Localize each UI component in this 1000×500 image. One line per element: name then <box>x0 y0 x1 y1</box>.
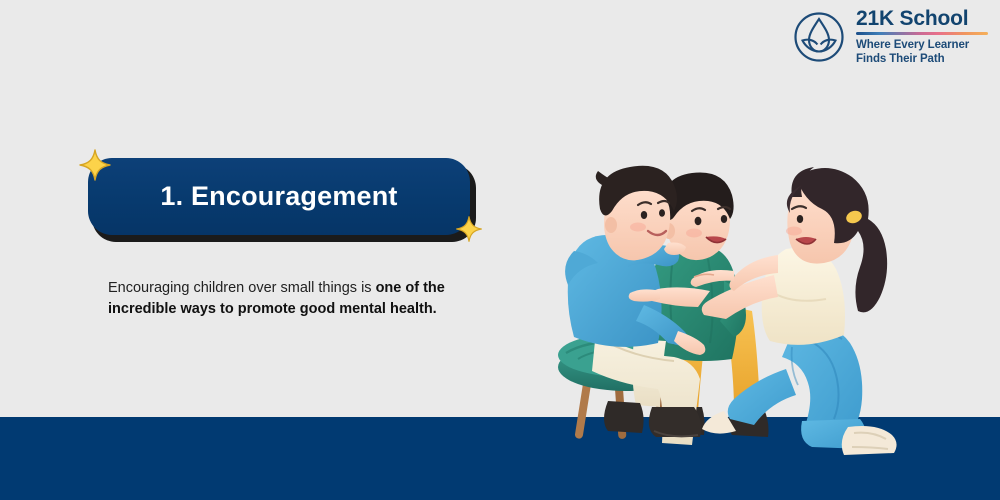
logo-tagline-line2: Finds Their Path <box>856 53 945 65</box>
sparkle-icon-bottom-right <box>455 215 483 243</box>
lotus-circle-icon <box>792 10 846 64</box>
logo-gradient-underline <box>856 32 988 35</box>
title-banner: 1. Encouragement <box>78 148 478 248</box>
logo-tagline-line1: Where Every Learner <box>856 39 969 51</box>
logo-text-block: 21K School Where Every Learner Finds The… <box>856 8 988 66</box>
body-paragraph: Encouraging children over small things i… <box>108 278 468 320</box>
brand-logo[interactable]: 21K School Where Every Learner Finds The… <box>792 8 988 66</box>
logo-tagline: Where Every Learner Finds Their Path <box>856 38 988 66</box>
banner-title-text: 1. Encouragement <box>160 181 397 212</box>
banner-body: 1. Encouragement <box>88 158 470 235</box>
logo-title: 21K School <box>856 8 988 30</box>
slide-canvas: 21K School Where Every Learner Finds The… <box>0 0 1000 500</box>
body-text-plain: Encouraging children over small things i… <box>108 280 376 296</box>
three-people-encouragement-illustration <box>548 155 948 465</box>
sparkle-icon-top-left <box>78 148 112 182</box>
